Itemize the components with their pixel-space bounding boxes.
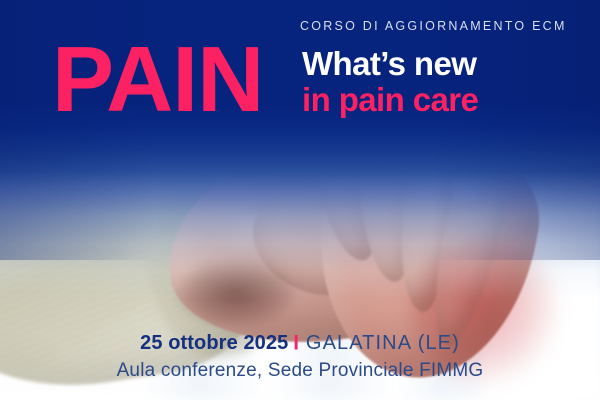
date-and-city-line: 25 ottobre 2025IGALATINA (LE) <box>0 330 600 357</box>
event-details: 25 ottobre 2025IGALATINA (LE) Aula confe… <box>0 330 600 385</box>
headline: What’s new in pain care <box>302 46 478 118</box>
event-city: GALATINA (LE) <box>306 332 460 354</box>
pain-wordmark: PAIN <box>52 33 263 126</box>
course-type-eyebrow: CORSO DI AGGIORNAMENTO ECM <box>300 19 567 33</box>
headline-line-1: What’s new <box>302 46 478 82</box>
headline-line-2: in pain care <box>302 82 478 118</box>
date-city-separator: I <box>293 329 299 358</box>
event-date: 25 ottobre 2025 <box>140 332 288 354</box>
poster-text-layer: CORSO DI AGGIORNAMENTO ECM PAIN What’s n… <box>0 0 600 400</box>
event-venue: Aula conferenze, Sede Provinciale FIMMG <box>0 357 600 385</box>
event-poster: CORSO DI AGGIORNAMENTO ECM PAIN What’s n… <box>0 0 600 400</box>
